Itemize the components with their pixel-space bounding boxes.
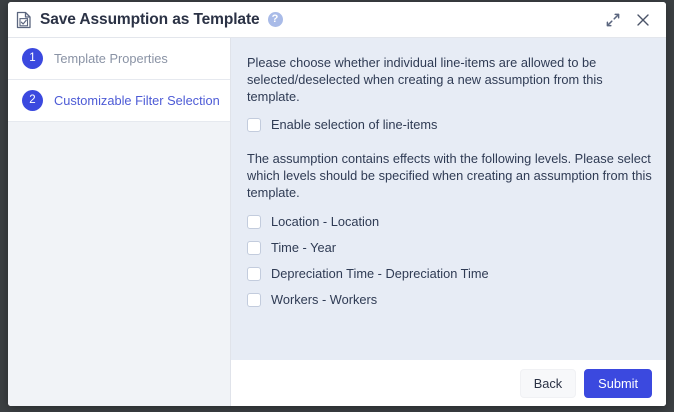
help-circle-icon[interactable]: ? — [268, 12, 283, 27]
dialog-title: Save Assumption as Template — [40, 11, 260, 29]
sidebar-empty-area — [8, 122, 230, 406]
checkbox-row-level[interactable]: Workers - Workers — [247, 292, 652, 307]
level-label: Location - Location — [271, 214, 379, 229]
level-label: Workers - Workers — [271, 292, 377, 307]
expand-button[interactable] — [600, 7, 626, 33]
level-label: Time - Year — [271, 240, 336, 255]
close-icon — [636, 13, 650, 27]
checkbox-row-enable-selection[interactable]: Enable selection of line-items — [247, 117, 652, 132]
dialog-footer: Back Submit — [231, 360, 666, 406]
dialog-body: 1 Template Properties 2 Customizable Fil… — [8, 38, 666, 406]
checkbox-row-level[interactable]: Location - Location — [247, 214, 652, 229]
step-number-badge: 1 — [22, 48, 43, 69]
step-label: Template Properties — [54, 51, 168, 66]
document-check-icon — [16, 11, 32, 29]
level-checkbox[interactable] — [247, 215, 261, 229]
level-label: Depreciation Time - Depreciation Time — [271, 266, 489, 281]
wizard-sidebar: 1 Template Properties 2 Customizable Fil… — [8, 38, 231, 406]
level-checkbox[interactable] — [247, 267, 261, 281]
close-button[interactable] — [630, 7, 656, 33]
level-checkbox[interactable] — [247, 293, 261, 307]
dialog-main: Please choose whether individual line-it… — [231, 38, 666, 406]
dialog-header: Save Assumption as Template ? — [8, 2, 666, 38]
checkbox-row-level[interactable]: Depreciation Time - Depreciation Time — [247, 266, 652, 281]
sidebar-step-customizable-filter-selection[interactable]: 2 Customizable Filter Selection — [8, 80, 230, 122]
step-number-badge: 2 — [22, 90, 43, 111]
checkbox-row-level[interactable]: Time - Year — [247, 240, 652, 255]
instruction-paragraph-two: The assumption contains effects with the… — [247, 150, 652, 201]
sidebar-step-template-properties[interactable]: 1 Template Properties — [8, 38, 230, 80]
back-button[interactable]: Back — [520, 369, 576, 398]
enable-selection-checkbox[interactable] — [247, 118, 261, 132]
expand-diagonal-icon — [606, 13, 620, 27]
instruction-paragraph-one: Please choose whether individual line-it… — [247, 54, 652, 105]
enable-selection-label: Enable selection of line-items — [271, 117, 437, 132]
submit-button[interactable]: Submit — [584, 369, 652, 398]
step-label: Customizable Filter Selection — [54, 93, 220, 108]
save-assumption-dialog: Save Assumption as Template ? 1 Template… — [8, 2, 666, 406]
content-panel: Please choose whether individual line-it… — [231, 38, 666, 360]
level-checkbox[interactable] — [247, 241, 261, 255]
